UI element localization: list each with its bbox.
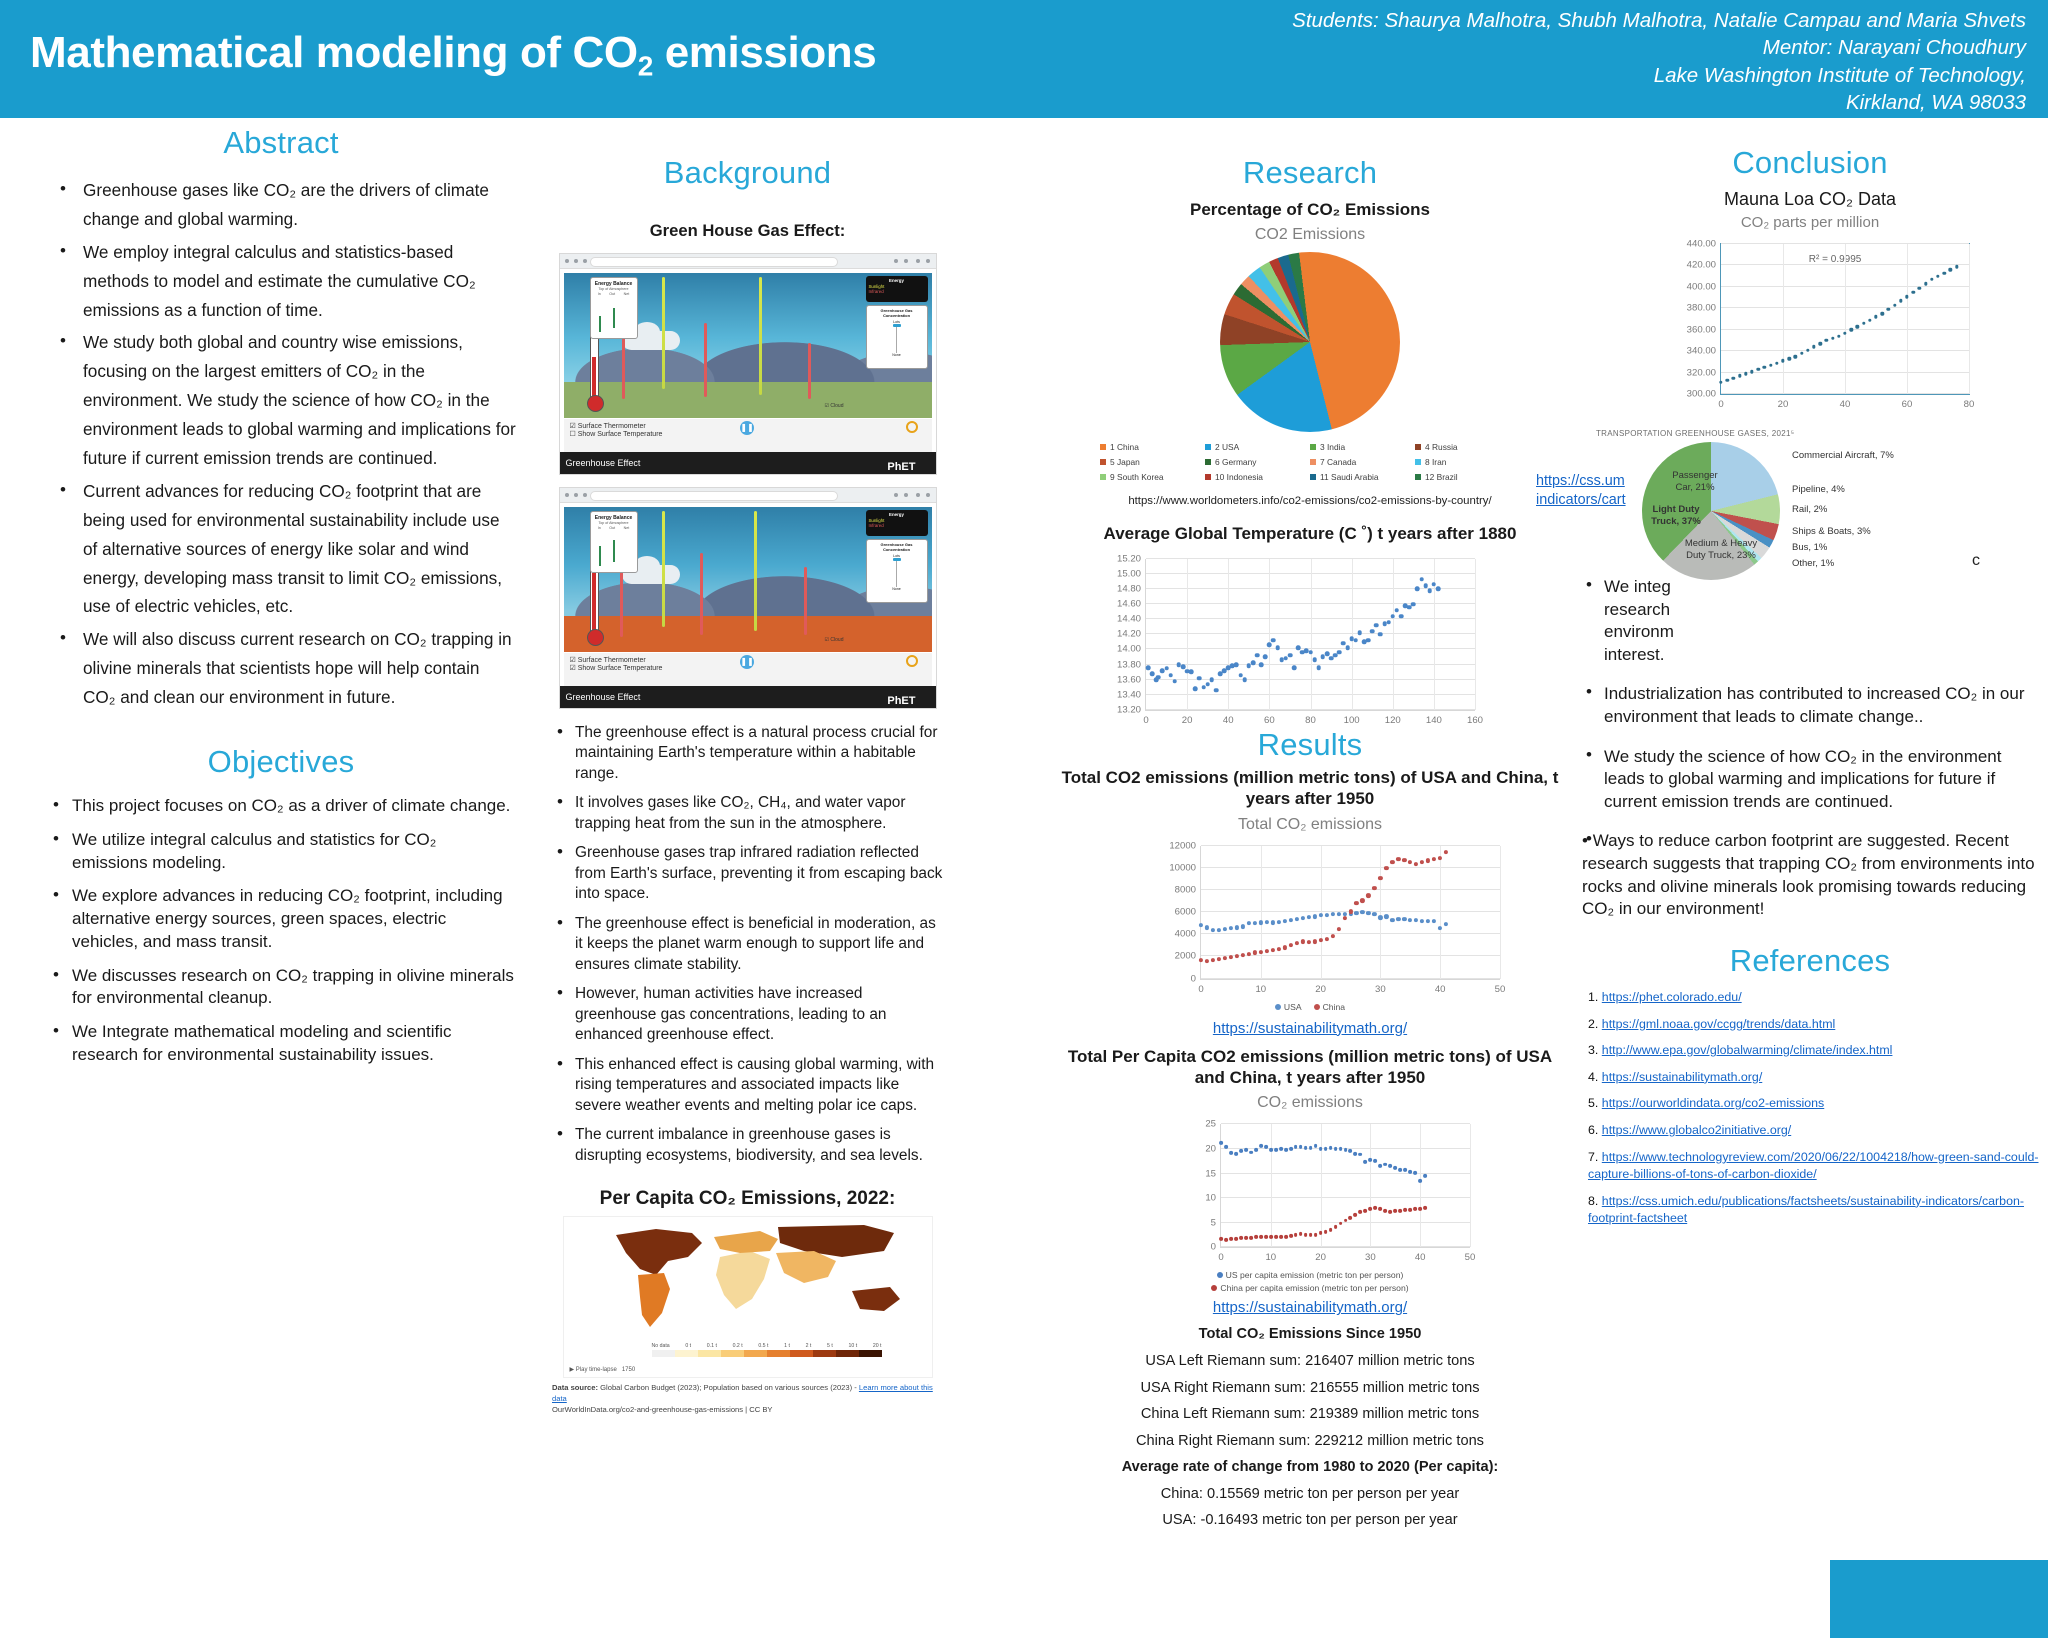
- stat-china-left: China Left Riemann sum: 219389 million m…: [1060, 1401, 1560, 1428]
- conclusion-heading: Conclusion: [1580, 145, 2040, 181]
- students-line: Students: Shaurya Malhotra, Shubh Malhot…: [1292, 7, 2026, 34]
- objectives-bullet-list: This project focuses on CO₂ as a driver …: [46, 795, 516, 1067]
- data-point: [1419, 577, 1424, 582]
- data-point: [1241, 924, 1245, 928]
- y-axis-tick-label: 14.00: [1117, 644, 1141, 655]
- data-point: [1309, 1233, 1313, 1237]
- data-point: [1373, 1159, 1377, 1163]
- reference-link[interactable]: https://phet.colorado.edu/: [1602, 990, 1742, 1004]
- data-point: [1366, 893, 1370, 897]
- reference-link[interactable]: https://www.globalco2initiative.org/: [1602, 1123, 1791, 1137]
- reference-link[interactable]: https://gml.noaa.gov/ccgg/trends/data.ht…: [1602, 1017, 1836, 1031]
- data-point: [1408, 1170, 1412, 1174]
- data-point: [1330, 912, 1334, 916]
- x-axis-tick-label: 40: [1840, 399, 1851, 410]
- column-background: Background Green House Gas Effect: Energ…: [550, 155, 945, 1415]
- data-point: [1304, 1233, 1308, 1237]
- data-point: [1264, 1145, 1268, 1149]
- data-point: [1408, 1208, 1412, 1212]
- y-axis-tick-label: 380.00: [1687, 303, 1716, 314]
- data-point: [1420, 919, 1424, 923]
- data-point: [1254, 1235, 1258, 1239]
- x-axis-tick-label: 30: [1375, 984, 1386, 995]
- data-point: [1235, 926, 1239, 930]
- x-axis-tick-label: 60: [1902, 399, 1913, 410]
- world-map-svg: [564, 1217, 933, 1347]
- background-bullet-list: The greenhouse effect is a natural proce…: [550, 723, 945, 1166]
- data-point: [1413, 1171, 1417, 1175]
- phet-logo: PhET: [887, 456, 915, 475]
- legend-item: 9 South Korea: [1100, 472, 1205, 482]
- data-point: [1244, 1236, 1248, 1240]
- sim-ground: [564, 382, 932, 418]
- data-point: [1205, 682, 1210, 687]
- background-subheading: Green House Gas Effect:: [550, 221, 945, 241]
- stats-heading: Total CO₂ Emissions Since 1950: [1060, 1321, 1560, 1348]
- ghg-high-label: Lots: [869, 320, 925, 324]
- data-point: [1393, 1166, 1397, 1170]
- surface-thermometer-label: Surface Thermometer: [578, 423, 646, 430]
- data-point: [1304, 1146, 1308, 1150]
- menu-icon[interactable]: [926, 259, 930, 263]
- transportation-pie-figure: Passenger Car, 21% Light Duty Truck, 37%…: [1580, 442, 2040, 588]
- y-axis-tick-label: 14.20: [1117, 629, 1141, 640]
- data-point: [1336, 927, 1340, 931]
- list-item: 1. https://phet.colorado.edu/: [1580, 989, 2040, 1007]
- gridline: [1907, 244, 1908, 394]
- data-point: [1378, 916, 1382, 920]
- ghg-concentration-panel[interactable]: Greenhouse Gas Concentration Lots None: [866, 539, 928, 603]
- data-point: [1378, 1164, 1382, 1168]
- infrared-wave: [704, 323, 707, 397]
- data-point: [1324, 937, 1328, 941]
- data-point: [1319, 938, 1323, 942]
- sim-footer: Greenhouse Effect PhET: [560, 686, 936, 708]
- ghg-high-label: Lots: [869, 554, 925, 558]
- data-point: [1249, 1236, 1253, 1240]
- gridline: [1221, 1197, 1470, 1198]
- browser-back-icon[interactable]: [565, 259, 569, 263]
- zoom-icon[interactable]: [894, 493, 898, 497]
- gridline: [1201, 933, 1500, 934]
- slice-label-medium-heavy-truck: Medium & Heavy Duty Truck, 23%: [1684, 538, 1758, 562]
- data-point: [1205, 959, 1209, 963]
- city-line: Kirkland, WA 98033: [1292, 89, 2026, 116]
- gridline: [1393, 559, 1394, 710]
- energy-legend-panel: Energy Sunlight Infrared: [866, 276, 928, 302]
- data-point: [1818, 342, 1821, 345]
- phet-simulation-screenshot-cool[interactable]: Energy Balance Top of Atmosphere In Out …: [559, 253, 937, 475]
- results-chart1-legend: USA China: [1060, 1002, 1560, 1012]
- list-item: 4. https://sustainabilitymath.org/: [1580, 1069, 2040, 1087]
- list-item: It involves gases like CO₂, CH₄, and wat…: [550, 793, 945, 834]
- data-point: [1831, 337, 1834, 340]
- data-point: [1354, 901, 1358, 905]
- browser-url-bar[interactable]: [590, 491, 838, 501]
- legend-item: US per capita emission (metric ton per p…: [1060, 1270, 1560, 1280]
- data-point: [1251, 661, 1256, 666]
- energy-legend-title: Energy: [889, 512, 904, 517]
- list-item: Industrialization has contributed to inc…: [1580, 683, 2040, 728]
- list-item: 3. http://www.epa.gov/globalwarming/clim…: [1580, 1042, 2040, 1060]
- browser-reload-icon[interactable]: [583, 259, 587, 263]
- infrared-wave: [804, 567, 807, 635]
- data-point: [1271, 948, 1275, 952]
- browser-forward-icon[interactable]: [574, 259, 578, 263]
- data-point: [1259, 1144, 1263, 1148]
- data-point: [1156, 675, 1161, 680]
- landmass-africa: [716, 1251, 770, 1309]
- cloud-checkbox[interactable]: ☑ Cloud: [825, 637, 844, 643]
- legend-item: China per capita emission (metric ton pe…: [1060, 1283, 1560, 1293]
- data-point: [1324, 913, 1328, 917]
- legend-tick: 20 t: [873, 1343, 882, 1349]
- data-point: [1719, 381, 1722, 384]
- pie-chart-source: https://www.worldometers.info/co2-emissi…: [1060, 495, 1560, 507]
- data-point: [1197, 676, 1202, 681]
- energy-net-label: Net: [624, 292, 630, 296]
- data-point: [1330, 934, 1334, 938]
- results-chart2-title: Total Per Capita CO2 emissions (million …: [1060, 1046, 1560, 1089]
- reference-link[interactable]: https://www.technologyreview.com/2020/06…: [1588, 1150, 2039, 1182]
- sim-controls-row[interactable]: ☑ Surface Thermometer ☑ Show Surface Tem…: [564, 653, 932, 686]
- data-point: [1378, 1207, 1382, 1211]
- results-chart2-link[interactable]: https://sustainabilitymath.org/: [1213, 1299, 1407, 1316]
- data-point: [1396, 917, 1400, 921]
- play-timelapse-label: Play time-lapse: [576, 1367, 617, 1373]
- y-axis-tick-label: 0: [1211, 1242, 1216, 1253]
- data-point: [1259, 662, 1264, 667]
- data-point: [1324, 1147, 1328, 1151]
- browser-chrome: [560, 488, 936, 503]
- legend-item: 7 Canada: [1310, 457, 1415, 467]
- data-point: [1319, 1231, 1323, 1235]
- css-umich-link[interactable]: https://css.um indicators/cart: [1536, 472, 1626, 509]
- data-point: [1337, 650, 1342, 655]
- data-point: [1271, 638, 1276, 643]
- column-abstract: Abstract Greenhouse gases like CO₂ are t…: [46, 125, 516, 1078]
- css-link-line1[interactable]: https://css.um: [1536, 473, 1625, 489]
- data-point: [1794, 355, 1797, 358]
- x-axis-tick-label: 0: [1143, 715, 1148, 726]
- energy-net-label: Net: [624, 526, 630, 530]
- ghg-panel-title: Greenhouse Gas Concentration: [880, 308, 912, 318]
- reference-link[interactable]: https://ourworldindata.org/co2-emissions: [1602, 1096, 1824, 1110]
- y-axis-tick-label: 5: [1211, 1217, 1216, 1228]
- results-chart1-link[interactable]: https://sustainabilitymath.org/: [1213, 1020, 1407, 1037]
- energy-balance-toa: Top of Atmosphere: [594, 287, 634, 291]
- data-point: [1887, 308, 1890, 311]
- list-item: 8. https://css.umich.edu/publications/fa…: [1580, 1193, 2040, 1228]
- thermometer-icon[interactable]: [590, 328, 599, 404]
- legend-tick: 0.5 t: [758, 1343, 768, 1349]
- gridline: [1475, 559, 1476, 710]
- data-point: [1279, 1235, 1283, 1239]
- legend-tick: 0 t: [685, 1343, 691, 1349]
- data-point: [1211, 928, 1215, 932]
- x-axis-tick-label: 20: [1182, 715, 1193, 726]
- y-axis-tick-label: 8000: [1175, 884, 1196, 895]
- slice-label-other: Other, 1%: [1792, 558, 1834, 569]
- world-map-figure: No data 0 t 0.1 t 0.2 t 0.5 t 1 t 2 t 5 …: [563, 1216, 933, 1378]
- data-point: [1880, 312, 1883, 315]
- gridline: [1311, 559, 1312, 710]
- gridline: [1269, 559, 1270, 710]
- y-axis-tick-label: 6000: [1175, 907, 1196, 918]
- bookmark-star-icon[interactable]: [904, 493, 908, 497]
- pie-chart-legend: 1 China 2 USA 3 India 4 Russia 5 Japan 6…: [1100, 442, 1520, 487]
- data-point: [1210, 677, 1215, 682]
- legend-item: 3 India: [1310, 442, 1415, 452]
- data-point: [1354, 1213, 1358, 1217]
- sim-title-label: Greenhouse Effect: [566, 458, 641, 468]
- data-point: [1353, 638, 1358, 643]
- x-axis-tick-label: 80: [1305, 715, 1316, 726]
- reset-button[interactable]: [906, 421, 918, 433]
- x-axis-tick-label: 20: [1315, 984, 1326, 995]
- menu-icon[interactable]: [926, 493, 930, 497]
- data-point: [1432, 582, 1437, 587]
- sunlight-wave: [754, 511, 757, 631]
- map-playback-row[interactable]: ▶ Play time-lapse 1750: [570, 1366, 636, 1373]
- cloud-checkbox-label: Cloud: [830, 637, 843, 643]
- data-point: [1399, 614, 1404, 619]
- extensions-icon[interactable]: [916, 259, 920, 263]
- x-axis-tick-label: 10: [1265, 1252, 1276, 1263]
- data-point: [1930, 278, 1933, 281]
- data-point: [1294, 1145, 1298, 1149]
- total-co2-emissions-chart: 02000400060008000100001200001020304050: [1200, 846, 1500, 980]
- map-source-note: Data source: Global Carbon Budget (2023)…: [550, 1382, 945, 1415]
- ghg-low-label: None: [869, 587, 925, 591]
- data-point: [1936, 274, 1939, 277]
- conclusion-bullet-list: We integ research environm interest. Ind…: [1580, 576, 2040, 921]
- y-axis-tick-label: 12000: [1169, 840, 1196, 851]
- data-point: [1354, 1152, 1358, 1156]
- css-link-line2[interactable]: indicators/cart: [1536, 492, 1626, 508]
- x-axis-tick-label: 0: [1198, 984, 1203, 995]
- gridline: [1228, 559, 1229, 710]
- sim-footer: Greenhouse Effect PhET: [560, 452, 936, 474]
- data-point: [1360, 910, 1364, 914]
- data-point: [1384, 866, 1388, 870]
- data-point: [1339, 1221, 1343, 1225]
- data-point: [1341, 641, 1346, 646]
- cloud-checkbox[interactable]: ☑ Cloud: [825, 403, 844, 409]
- x-axis-tick-label: 0: [1718, 399, 1723, 410]
- map-legend-gradient: [652, 1350, 882, 1357]
- x-axis-tick-label: 30: [1365, 1252, 1376, 1263]
- data-point: [1436, 587, 1441, 592]
- legend-tick: 0.1 t: [707, 1343, 717, 1349]
- reference-list: 1. https://phet.colorado.edu/ 2. https:/…: [1580, 989, 2040, 1228]
- data-point: [1299, 1145, 1303, 1149]
- authors-block: Students: Shaurya Malhotra, Shubh Malhot…: [1292, 7, 2026, 116]
- data-point: [1301, 916, 1305, 920]
- data-point: [1366, 638, 1371, 643]
- ghg-concentration-panel[interactable]: Greenhouse Gas Concentration Lots None: [866, 305, 928, 369]
- data-point: [1438, 926, 1442, 930]
- gridline: [1201, 845, 1500, 846]
- data-point: [1368, 1207, 1372, 1211]
- y-axis-tick-label: 300.00: [1687, 389, 1716, 400]
- gridline: [1221, 1123, 1470, 1124]
- data-point: [1725, 378, 1728, 381]
- data-point: [1360, 898, 1364, 902]
- reset-button[interactable]: [906, 655, 918, 667]
- data-point: [1336, 912, 1340, 916]
- data-point: [1955, 265, 1958, 268]
- data-point: [1402, 858, 1406, 862]
- data-point: [1373, 1206, 1377, 1210]
- data-point: [1284, 1148, 1288, 1152]
- temperature-chart-title: Average Global Temperature (C ˚) t years…: [1060, 523, 1560, 544]
- y-axis-tick-label: 14.60: [1117, 599, 1141, 610]
- map-source-label: Data source:: [552, 1383, 598, 1392]
- reference-link[interactable]: http://www.epa.gov/globalwarming/climate…: [1602, 1043, 1893, 1057]
- data-point: [1378, 876, 1382, 880]
- legend-tick: No data: [652, 1343, 670, 1349]
- data-point: [1283, 946, 1287, 950]
- energy-balance-toa: Top of Atmosphere: [594, 521, 634, 525]
- data-point: [1344, 1148, 1348, 1152]
- data-point: [1229, 955, 1233, 959]
- data-point: [1423, 1174, 1427, 1178]
- data-point: [1264, 1235, 1268, 1239]
- y-axis-tick-label: 14.40: [1117, 614, 1141, 625]
- data-point: [1259, 1235, 1263, 1239]
- slice-label-light-duty-truck: Light Duty Truck, 37%: [1648, 504, 1704, 528]
- browser-url-bar[interactable]: [590, 257, 838, 267]
- average-global-temperature-chart: 13.2013.4013.6013.8014.0014.2014.4014.60…: [1145, 559, 1475, 711]
- data-point: [1288, 653, 1293, 658]
- surface-thermometer-label: Surface Thermometer: [578, 657, 646, 664]
- data-point: [1800, 352, 1803, 355]
- data-point: [1374, 623, 1379, 628]
- stray-character: c: [1972, 552, 1980, 570]
- data-point: [1849, 328, 1852, 331]
- y-axis-tick-label: 340.00: [1687, 346, 1716, 357]
- ghg-slider-track[interactable]: [896, 561, 897, 587]
- reference-link[interactable]: https://sustainabilitymath.org/: [1602, 1070, 1762, 1084]
- data-point: [1307, 915, 1311, 919]
- thermometer-icon[interactable]: [590, 562, 599, 638]
- data-point: [1339, 1147, 1343, 1151]
- transportation-pie-caption: TRANSPORTATION GREENHOUSE GASES, 2021⁵: [1596, 429, 2040, 438]
- results-chart1-subtitle: Total CO₂ emissions: [1060, 816, 1560, 834]
- data-point: [1432, 857, 1436, 861]
- ghg-slider-track[interactable]: [896, 327, 897, 353]
- data-point: [1738, 374, 1741, 377]
- list-item: We Integrate mathematical modeling and s…: [46, 1021, 516, 1067]
- landmass-europe: [714, 1231, 778, 1253]
- data-point: [1750, 370, 1753, 373]
- browser-back-icon[interactable]: [565, 493, 569, 497]
- list-item: We study the science of how CO₂ in the e…: [1580, 746, 2040, 814]
- cloud-checkbox-label: Cloud: [830, 403, 843, 409]
- gridline: [1380, 846, 1381, 979]
- data-point: [1911, 291, 1914, 294]
- gridline: [1783, 244, 1784, 394]
- data-point: [1364, 1209, 1368, 1213]
- data-point: [1372, 912, 1376, 916]
- data-point: [1334, 1147, 1338, 1151]
- gridline: [1221, 1173, 1470, 1174]
- list-item: However, human activities have increased…: [550, 984, 945, 1045]
- y-axis-tick-label: 25: [1205, 1119, 1216, 1130]
- data-point: [1172, 679, 1177, 684]
- y-axis-tick-label: 440.00: [1687, 239, 1716, 250]
- data-point: [1211, 958, 1215, 962]
- data-point: [1274, 1235, 1278, 1239]
- decorative-blue-corner: [1830, 1560, 2048, 1638]
- data-point: [1358, 631, 1363, 636]
- data-point: [1403, 1168, 1407, 1172]
- data-point: [1316, 665, 1321, 670]
- y-axis-tick-label: 0: [1191, 973, 1196, 984]
- energy-bar-out: [613, 308, 615, 328]
- data-point: [1312, 658, 1317, 663]
- mauna-loa-subtitle: CO₂ parts per million: [1580, 214, 2040, 231]
- y-axis-tick-label: 360.00: [1687, 324, 1716, 335]
- data-point: [1224, 1145, 1228, 1149]
- data-point: [1259, 921, 1263, 925]
- data-point: [1265, 949, 1269, 953]
- data-point: [1390, 860, 1394, 864]
- abstract-bullet-list: Greenhouse gases like CO₂ are the driver…: [46, 176, 516, 712]
- gridline: [1187, 559, 1188, 710]
- data-point: [1949, 268, 1952, 271]
- data-point: [1267, 643, 1272, 648]
- institute-line: Lake Washington Institute of Technology,: [1292, 62, 2026, 89]
- slice-label-commercial-aircraft: Commercial Aircraft, 7%: [1792, 450, 1894, 461]
- data-point: [1242, 677, 1247, 682]
- data-point: [1263, 655, 1268, 660]
- y-axis-tick-label: 20: [1205, 1144, 1216, 1155]
- data-point: [1271, 921, 1275, 925]
- phet-logo: PhET: [887, 690, 915, 709]
- show-surface-temperature-label: Show Surface Temperature: [578, 665, 663, 672]
- data-point: [1294, 1233, 1298, 1237]
- data-point: [1253, 921, 1257, 925]
- x-axis-tick-label: 100: [1344, 715, 1360, 726]
- browser-reload-icon[interactable]: [583, 493, 587, 497]
- y-axis-tick-label: 13.20: [1117, 704, 1141, 715]
- phet-simulation-screenshot-warm[interactable]: Energy Balance Top of Atmosphere In Out …: [559, 487, 937, 709]
- reference-link[interactable]: https://css.umich.edu/publications/facts…: [1588, 1194, 2024, 1226]
- data-point: [1418, 1179, 1422, 1183]
- data-point: [1275, 646, 1280, 651]
- data-point: [1342, 916, 1346, 920]
- extensions-icon[interactable]: [916, 493, 920, 497]
- legend-item: 4 Russia: [1415, 442, 1520, 452]
- data-point: [1259, 950, 1263, 954]
- browser-forward-icon[interactable]: [574, 493, 578, 497]
- zoom-icon[interactable]: [894, 259, 898, 263]
- data-point: [1426, 859, 1430, 863]
- bookmark-star-icon[interactable]: [904, 259, 908, 263]
- data-point: [1319, 913, 1323, 917]
- list-item: 5. https://ourworldindata.org/co2-emissi…: [1580, 1095, 2040, 1113]
- data-point: [1235, 954, 1239, 958]
- sim-controls-row[interactable]: ☑ Surface Thermometer ☐ Show Surface Tem…: [564, 419, 932, 452]
- data-point: [1229, 1151, 1233, 1155]
- slice-label-ships-boats: Ships & Boats, 3%: [1792, 526, 1871, 537]
- data-point: [1283, 919, 1287, 923]
- data-point: [1299, 1232, 1303, 1236]
- data-point: [1189, 670, 1194, 675]
- map-source-attribution: OurWorldInData.org/co2-and-greenhouse-ga…: [552, 1404, 945, 1415]
